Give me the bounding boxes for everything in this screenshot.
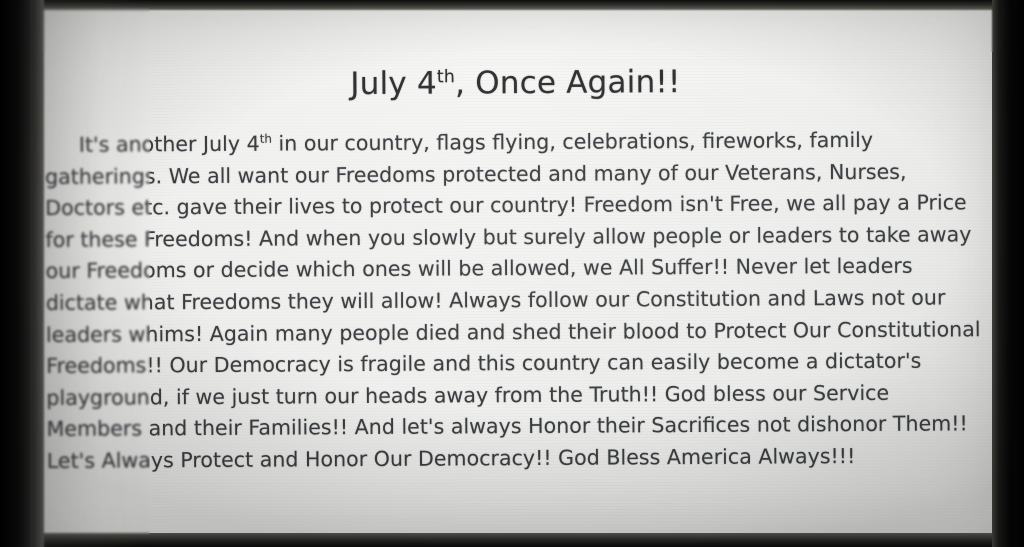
photographed-screen: July 4th, Once Again!! It's another July… [0,0,1024,547]
page-title: July 4th, Once Again!! [40,0,991,104]
body-text-part-2: in our country, flags flying, celebratio… [45,128,981,473]
screen-bezel-left [0,0,44,547]
screen-bezel-right [992,0,1024,547]
screen-bezel-bottom [0,533,1024,547]
document-body-paragraph: It's another July 4th in our country, fl… [41,98,993,477]
page-title-suffix: , Once Again!! [455,64,681,101]
page-title-ordinal-suffix: th [437,67,455,87]
screen-bezel-top [0,0,1024,10]
document-content: July 4th, Once Again!! It's another July… [40,0,993,543]
body-ordinal-suffix: th [260,132,272,146]
body-text-part-1: It's another July 4 [79,132,260,157]
page-title-prefix: July 4 [350,66,437,103]
